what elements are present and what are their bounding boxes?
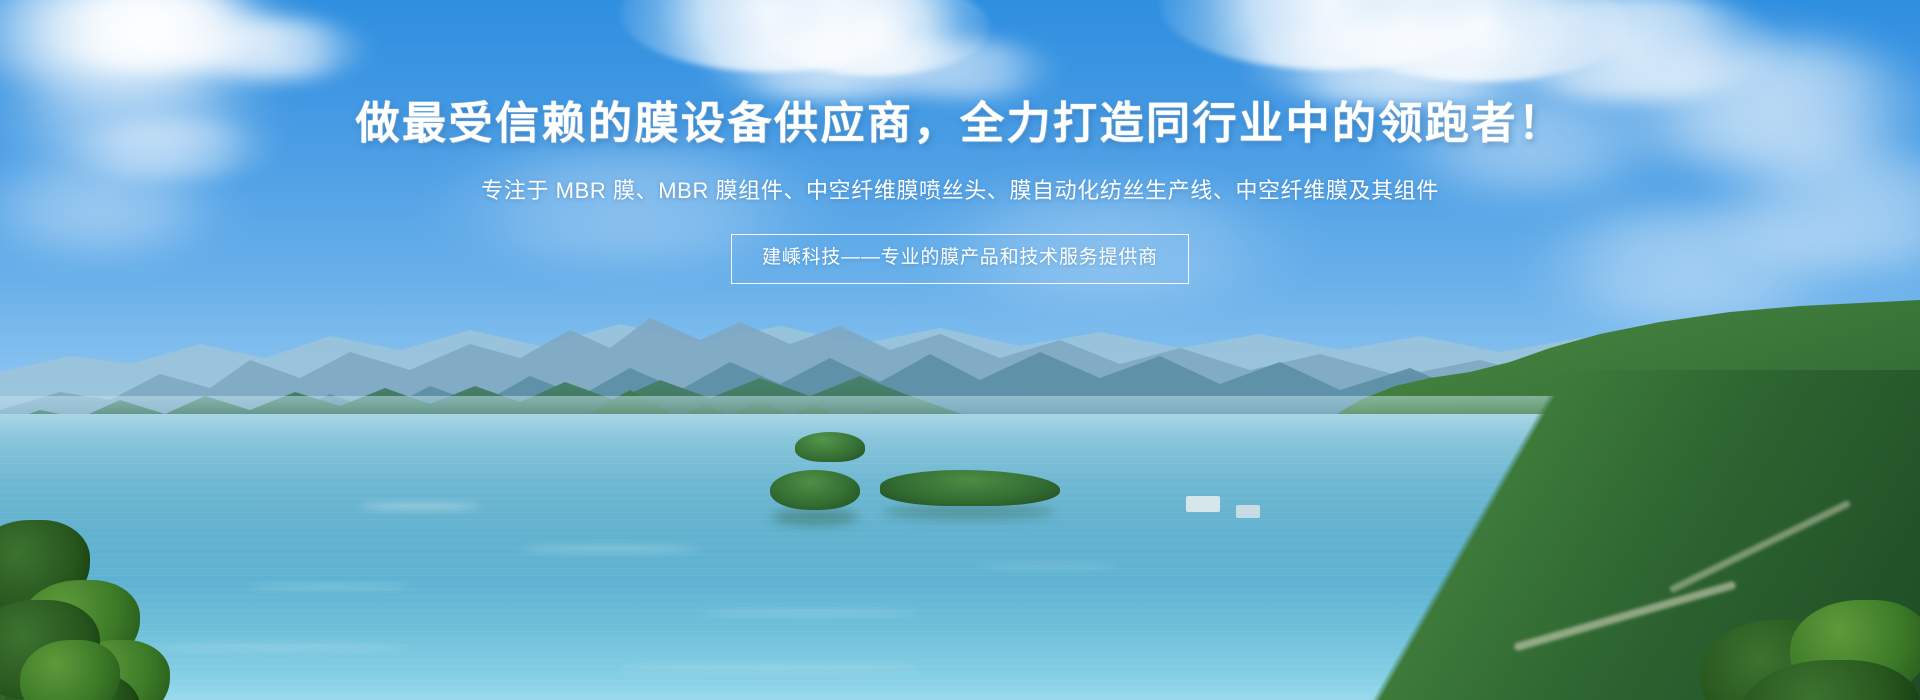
foreground-foliage [0, 580, 130, 700]
lake-island [770, 470, 860, 510]
water-glint [520, 546, 700, 552]
water-glint [620, 664, 920, 671]
shore-building [1236, 505, 1260, 518]
banner-text-overlay: 做最受信赖的膜设备供应商，全力打造同行业中的领跑者！ 专注于 MBR 膜、MBR… [0, 0, 1920, 284]
lake-island [795, 432, 865, 462]
island-reflection [772, 508, 858, 526]
lake-island [880, 470, 1060, 506]
island-reflection [884, 504, 1054, 520]
shore-building [1186, 496, 1220, 512]
water-glint [360, 504, 480, 509]
banner-headline: 做最受信赖的膜设备供应商，全力打造同行业中的领跑者！ [0, 98, 1920, 150]
water-glint [250, 584, 410, 589]
hero-banner: 做最受信赖的膜设备供应商，全力打造同行业中的领跑者！ 专注于 MBR 膜、MBR… [0, 0, 1920, 700]
banner-subtitle: 专注于 MBR 膜、MBR 膜组件、中空纤维膜喷丝头、膜自动化纺丝生产线、中空纤… [0, 176, 1920, 206]
banner-tagline-box: 建嵊科技——专业的膜产品和技术服务提供商 [731, 234, 1189, 284]
foreground-foliage [1680, 560, 1920, 700]
water-glint [980, 564, 1120, 569]
water-glint [700, 610, 920, 616]
